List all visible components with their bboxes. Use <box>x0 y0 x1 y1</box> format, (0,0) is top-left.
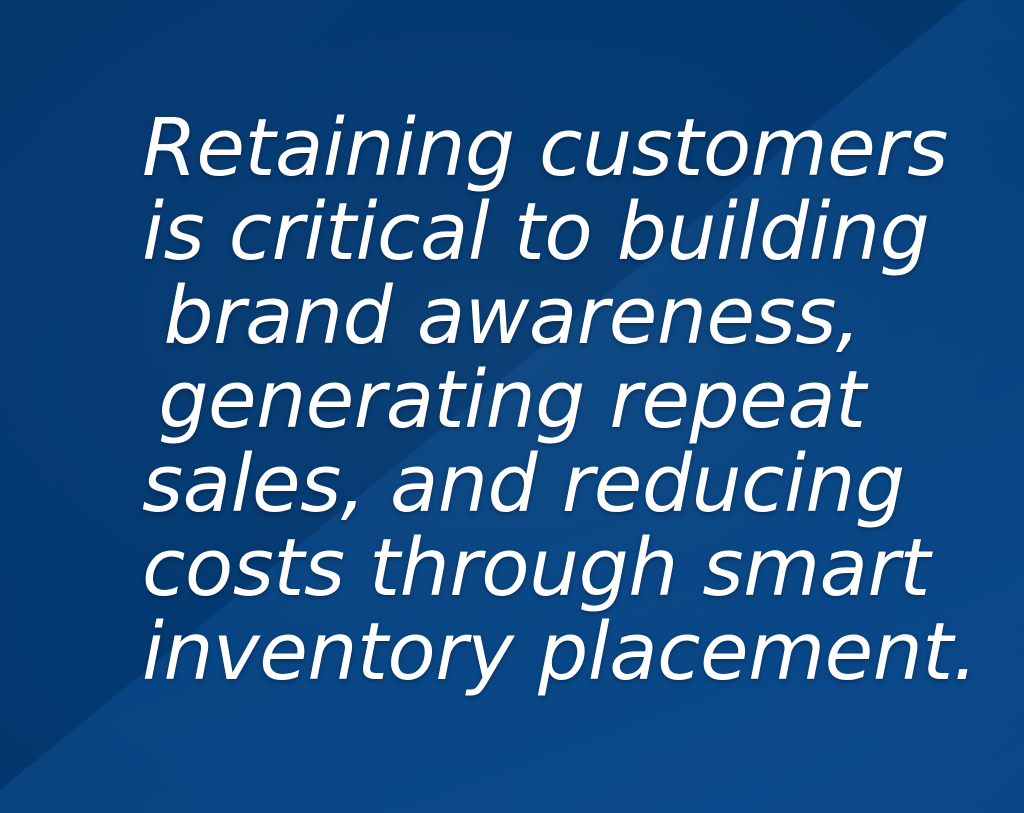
quote-line-5: sales, and reducing <box>142 442 882 526</box>
quote-text-block: Retaining customers is critical to build… <box>142 106 882 694</box>
quote-line-1: Retaining customers <box>142 106 882 190</box>
quote-line-2: is critical to building <box>142 190 882 274</box>
quote-line-6: costs through smart <box>142 526 882 610</box>
quote-text-container: Retaining customers is critical to build… <box>0 0 1024 813</box>
quote-line-7: inventory placement. <box>142 610 882 694</box>
quote-line-3: brand awareness, <box>142 274 882 358</box>
quote-line-4: generating repeat <box>142 358 882 442</box>
quote-card: Retaining customers is critical to build… <box>0 0 1024 813</box>
